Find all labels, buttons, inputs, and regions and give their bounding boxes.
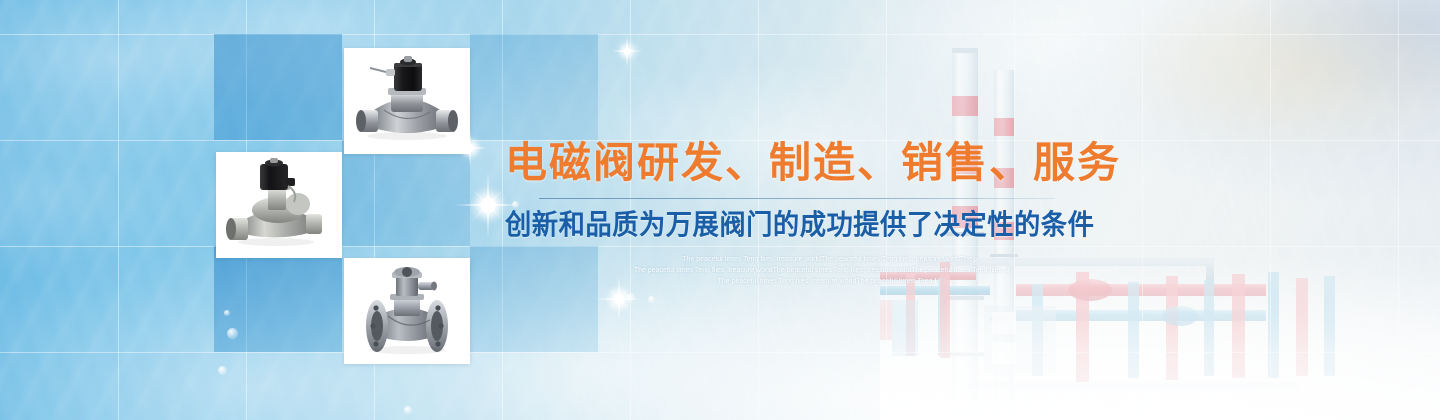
- product-thumb-solenoid-valve-flanged[interactable]: [344, 258, 470, 364]
- banner-copy: 电磁阀研发、制造、销售、服务 创新和品质为万展阀门的成功提供了决定性的条件 Th…: [505, 140, 1145, 288]
- tile-r2c1: [342, 140, 470, 246]
- tile-r1c4: [470, 34, 598, 140]
- blurb-line-1: The peaceful times Teng flies, treasure …: [505, 255, 1145, 266]
- hero-banner: 电磁阀研发、制造、销售、服务 创新和品质为万展阀门的成功提供了决定性的条件 Th…: [0, 0, 1440, 420]
- banner-blurb: The peaceful times Teng flies, treasure …: [505, 255, 1145, 288]
- blurb-line-2: The peaceful times Teng flies, treasure …: [505, 266, 1145, 277]
- tile-r1c2: [214, 34, 342, 140]
- tile-r3c2: [214, 246, 342, 352]
- banner-headline: 电磁阀研发、制造、销售、服务: [505, 140, 1145, 186]
- product-thumb-solenoid-valve-threaded-upright[interactable]: [216, 152, 342, 258]
- headline-divider: [539, 198, 1055, 199]
- banner-subheadline: 创新和品质为万展阀门的成功提供了决定性的条件: [505, 209, 1107, 241]
- blurb-line-3: The peaceful times Teng flies, treasure …: [505, 277, 1145, 288]
- product-thumb-solenoid-valve-threaded-horizontal[interactable]: [344, 48, 470, 154]
